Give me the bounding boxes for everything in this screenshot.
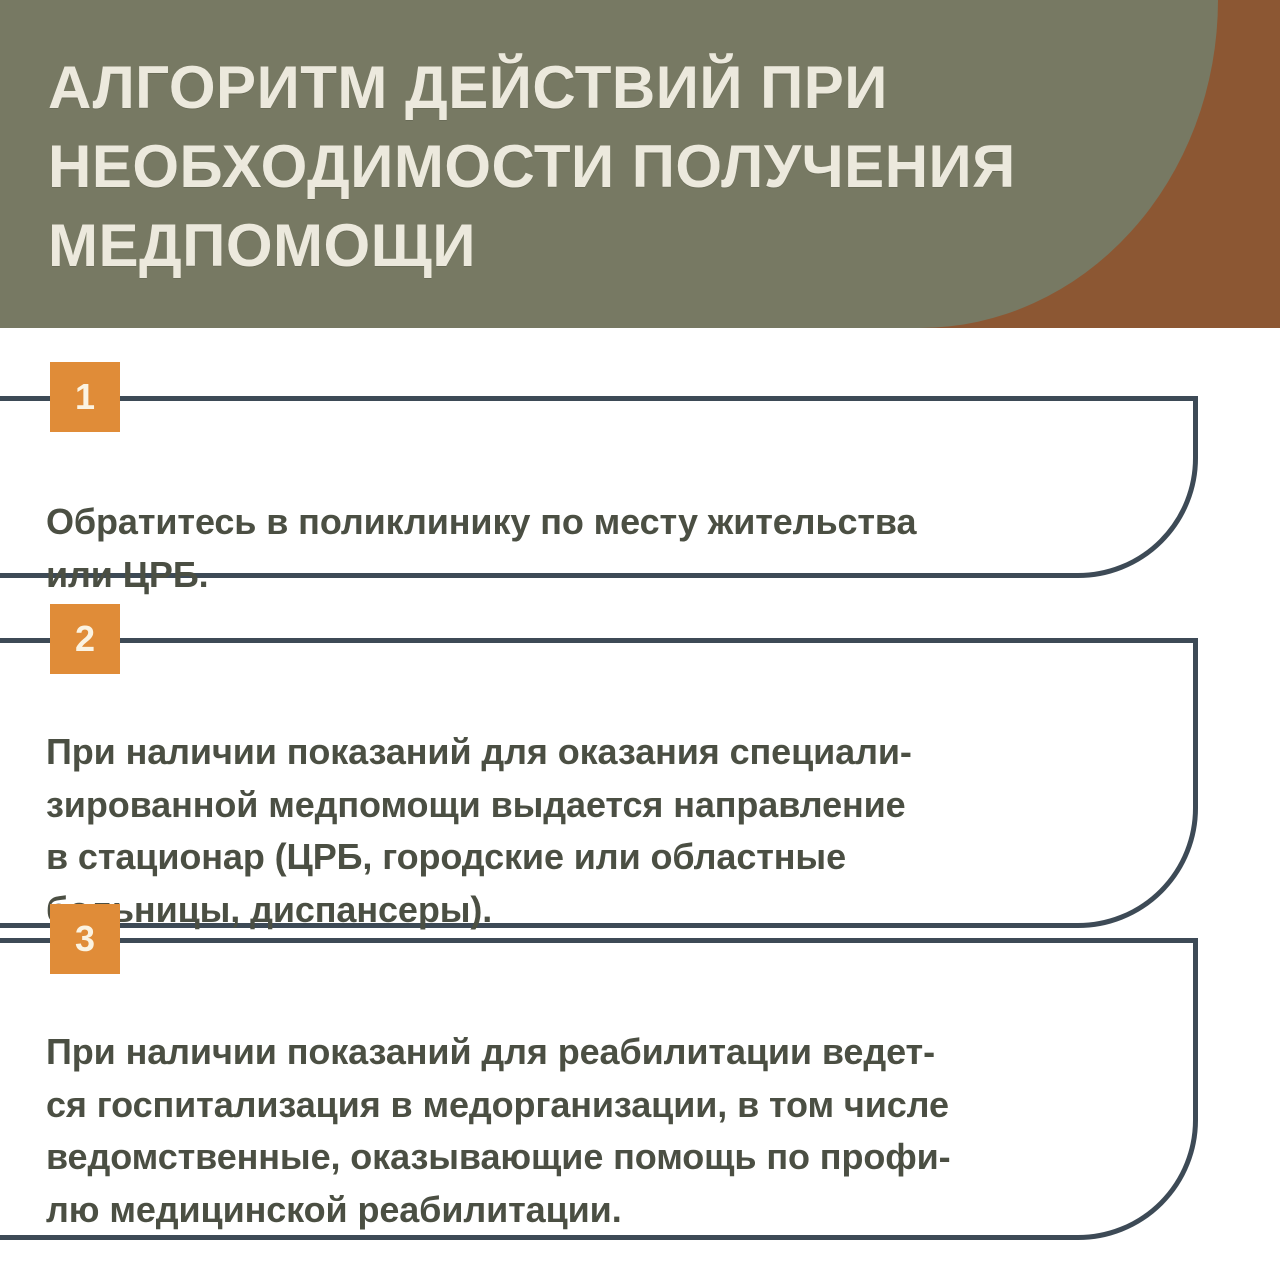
steps-list: 1 Обратитесь в поликлинику по месту жите… [0,328,1280,1280]
step-card-3: 3 При наличии показаний для реабилитации… [0,938,1198,1240]
step-number-badge-3: 3 [50,904,120,974]
header-banner: АЛГОРИТМ ДЕЙСТВИЙ ПРИ НЕОБХОДИМОСТИ ПОЛУ… [0,0,1280,328]
step-number-badge-1: 1 [50,362,120,432]
step-text-3: При наличии показаний для реабилитации в… [46,1026,1156,1236]
page-title: АЛГОРИТМ ДЕЙСТВИЙ ПРИ НЕОБХОДИМОСТИ ПОЛУ… [48,48,1168,286]
step-card-2: 2 При наличии показаний для оказания спе… [0,638,1198,928]
step-card-1: 1 Обратитесь в поликлинику по месту жите… [0,396,1198,578]
step-number-badge-2: 2 [50,604,120,674]
step-text-2: При наличии показаний для оказания специ… [46,726,1156,936]
infographic-poster: АЛГОРИТМ ДЕЙСТВИЙ ПРИ НЕОБХОДИМОСТИ ПОЛУ… [0,0,1280,1280]
step-text-1: Обратитесь в поликлинику по месту житель… [46,496,1156,601]
